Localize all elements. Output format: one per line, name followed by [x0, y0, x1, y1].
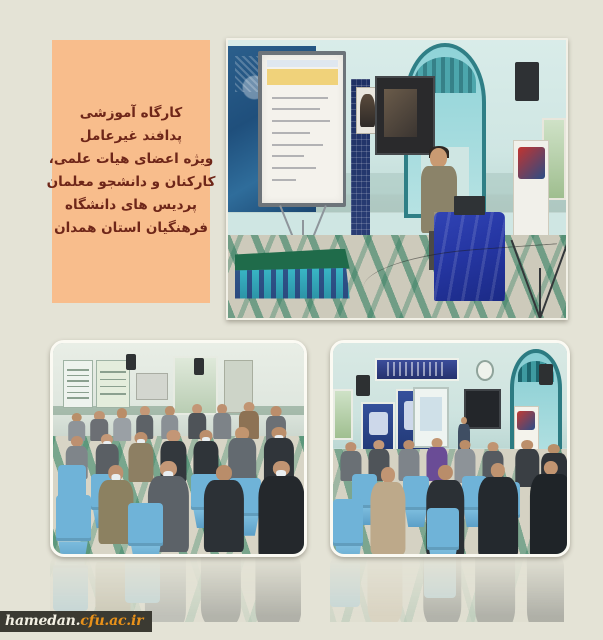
- announcement-line-4: کارکنان و دانشجو معلمان: [47, 172, 216, 194]
- photo-audience-scene: [53, 343, 304, 554]
- photo-audience-seated: [50, 340, 307, 557]
- photo-hall-wide: [330, 340, 570, 557]
- announcement-line-1: کارگاه آموزشی: [80, 103, 182, 125]
- announcement-line-5: پردیس های دانشگاه: [65, 195, 197, 217]
- watermark-part-2: cfu.ac.ir: [80, 613, 143, 629]
- photo-hall-scene: [333, 343, 567, 554]
- poster-canvas: کارگاه آموزشی پدافند غیرعامل ویژه اعضای …: [0, 0, 603, 640]
- announcement-line-2: پدافند غیرعامل: [80, 126, 182, 148]
- site-watermark: hamedan.cfu.ac.ir: [0, 611, 152, 632]
- photo-hall-reflection: [330, 552, 564, 622]
- photo-main-scene: [228, 40, 566, 318]
- announcement-line-6: فرهنگیان استان همدان: [54, 218, 208, 240]
- announcement-panel: کارگاه آموزشی پدافند غیرعامل ویژه اعضای …: [52, 40, 210, 303]
- watermark-part-1: hamedan.: [5, 613, 80, 629]
- announcement-line-3: ویژه اعضای هیات علمی،: [49, 149, 214, 171]
- photo-lecture-main: [226, 38, 568, 320]
